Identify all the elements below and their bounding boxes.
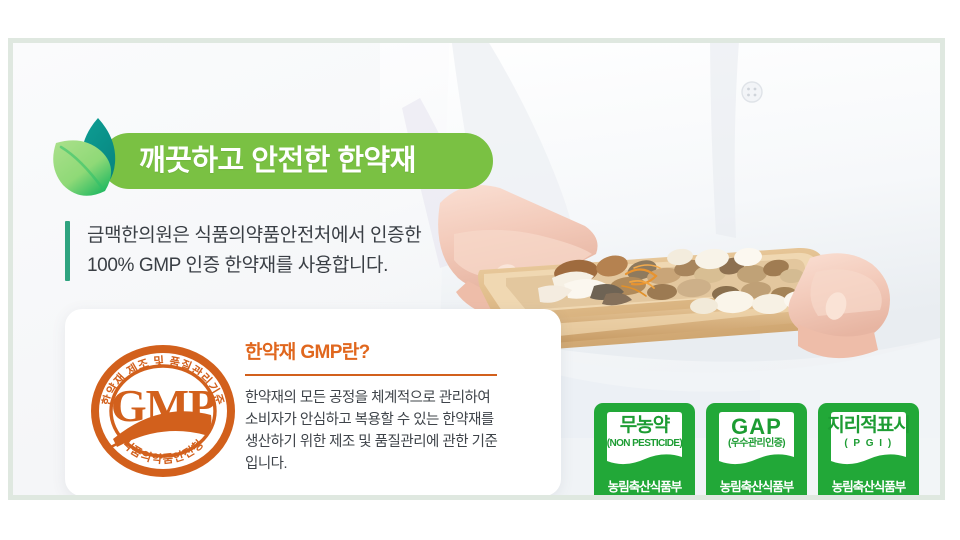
subtitle-text: 금맥한의원은 식품의약품안전처에서 인증한 100% GMP 인증 한약재를 사…	[87, 221, 421, 281]
subtitle-block: 금맥한의원은 식품의약품안전처에서 인증한 100% GMP 인증 한약재를 사…	[65, 221, 421, 281]
badge-gap: GAP (우수관리인증) 농림축산식품부	[706, 403, 807, 495]
svg-text:식품의약품안전청: 식품의약품안전청	[119, 436, 207, 466]
page-title: 깨끗하고 안전한 한약재	[139, 147, 416, 176]
gmp-info-card: GMP 한약재 제조 및 품질관리기준 식품의약품안전청 한약재 GMP란? 한…	[65, 309, 561, 495]
badge-title: GAP	[706, 416, 807, 438]
badge-pgi: 지리적표시 ( P G I ) 농림축산식품부	[818, 403, 919, 495]
gmp-card-divider	[245, 374, 497, 376]
gmp-card-body: 한약재 GMP란? 한약재의 모든 공정을 체계적으로 관리하여 소비자가 안심…	[245, 331, 537, 475]
gmp-card-heading: 한약재 GMP란?	[245, 343, 537, 364]
badge-ministry: 농림축산식품부	[818, 481, 919, 494]
certification-badges: 무농약 (NON PESTICIDE) 농림축산식품부 GAP (우수관리인증)…	[594, 403, 919, 495]
leaf-icon	[47, 115, 133, 199]
subtitle-line-2: 100% GMP 인증 한약재를 사용합니다.	[87, 251, 421, 281]
badge-subtitle: (우수관리인증)	[706, 439, 807, 449]
subtitle-accent-bar	[65, 221, 70, 281]
headline-pill: 깨끗하고 안전한 한약재	[101, 133, 493, 189]
gmp-card-description: 한약재의 모든 공정을 체계적으로 관리하여 소비자가 안심하고 복용할 수 있…	[245, 387, 537, 475]
badge-ministry: 농림축산식품부	[706, 481, 807, 494]
content-panel: 깨끗하고 안전한 한약재 금맥한의원은 식품의약품안전처에서 인증한 100% …	[8, 38, 945, 500]
subtitle-line-1: 금맥한의원은 식품의약품안전처에서 인증한	[87, 221, 421, 251]
badge-non-pesticide: 무농약 (NON PESTICIDE) 농림축산식품부	[594, 403, 695, 495]
promo-banner: 깨끗하고 안전한 한약재 금맥한의원은 식품의약품안전처에서 인증한 100% …	[0, 0, 960, 540]
badge-title: 지리적표시	[818, 416, 919, 435]
badge-subtitle: (NON PESTICIDE)	[594, 439, 695, 449]
badge-ministry: 농림축산식품부	[594, 481, 695, 494]
badge-subtitle: ( P G I )	[818, 439, 919, 449]
badge-title: 무농약	[594, 416, 695, 435]
gmp-seal-icon: GMP 한약재 제조 및 품질관리기준 식품의약품안전청	[87, 335, 239, 483]
content-panel-inner: 깨끗하고 안전한 한약재 금맥한의원은 식품의약품안전처에서 인증한 100% …	[13, 43, 940, 495]
svg-text:GMP: GMP	[111, 380, 215, 431]
